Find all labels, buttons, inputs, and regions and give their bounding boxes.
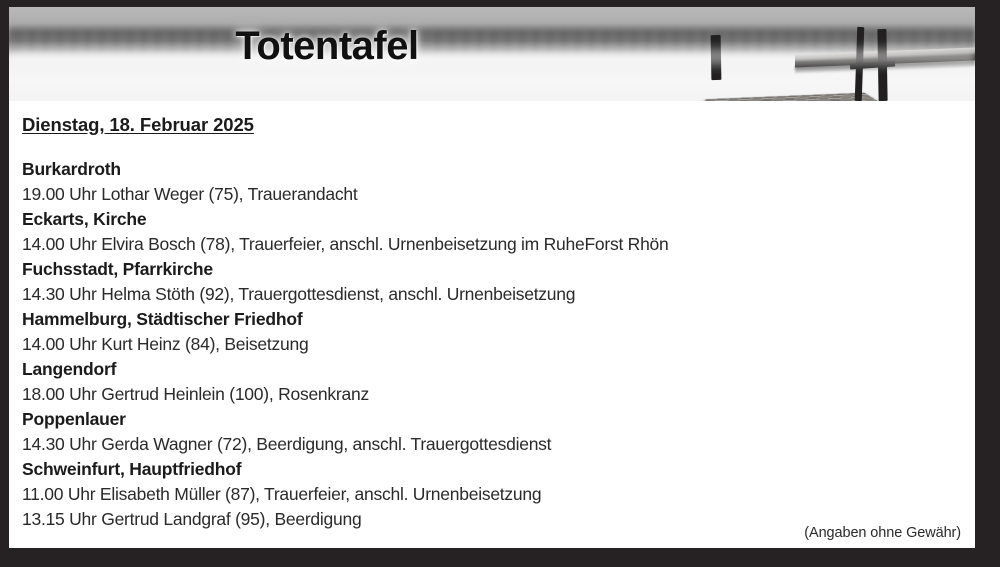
entry-item: Hammelburg, Städtischer Friedhof14.00 Uh… xyxy=(22,307,961,357)
entry-item: Schweinfurt, Hauptfriedhof11.00 Uhr Elis… xyxy=(22,457,961,532)
entry-place: Fuchsstadt, Pfarrkirche xyxy=(22,257,961,282)
entry-item: Burkardroth19.00 Uhr Lothar Weger (75), … xyxy=(22,157,961,207)
entry-service: 18.00 Uhr Gertrud Heinlein (100), Rosenk… xyxy=(22,382,961,407)
entry-service: 19.00 Uhr Lothar Weger (75), Trauerandac… xyxy=(22,182,961,207)
notice-sheet: Totentafel Dienstag, 18. Februar 2025 Bu… xyxy=(9,7,975,548)
entry-list: Burkardroth19.00 Uhr Lothar Weger (75), … xyxy=(22,157,961,532)
entry-service: 14.00 Uhr Kurt Heinz (84), Beisetzung xyxy=(22,332,961,357)
entry-place: Poppenlauer xyxy=(22,407,961,432)
pier-deck xyxy=(665,93,914,101)
entry-place: Langendorf xyxy=(22,357,961,382)
entry-item: Eckarts, Kirche14.00 Uhr Elvira Bosch (7… xyxy=(22,207,961,257)
entry-service: 14.30 Uhr Gerda Wagner (72), Beerdigung,… xyxy=(22,432,961,457)
entry-item: Poppenlauer14.30 Uhr Gerda Wagner (72), … xyxy=(22,407,961,457)
entry-service: 11.00 Uhr Elisabeth Müller (87), Trauerf… xyxy=(22,482,961,507)
entry-place: Eckarts, Kirche xyxy=(22,207,961,232)
date-heading: Dienstag, 18. Februar 2025 xyxy=(22,113,961,137)
entry-place: Hammelburg, Städtischer Friedhof xyxy=(22,307,961,332)
entry-item: Langendorf18.00 Uhr Gertrud Heinlein (10… xyxy=(22,357,961,407)
notice-content: Dienstag, 18. Februar 2025 Burkardroth19… xyxy=(9,101,975,548)
entry-place: Burkardroth xyxy=(22,157,961,182)
disclaimer-note: (Angaben ohne Gewähr) xyxy=(804,524,961,542)
entry-service: 14.00 Uhr Elvira Bosch (78), Trauerfeier… xyxy=(22,232,961,257)
entry-service: 14.30 Uhr Helma Stöth (92), Trauergottes… xyxy=(22,282,961,307)
entry-item: Fuchsstadt, Pfarrkirche14.30 Uhr Helma S… xyxy=(22,257,961,307)
page-title: Totentafel xyxy=(9,23,975,69)
entry-place: Schweinfurt, Hauptfriedhof xyxy=(22,457,961,482)
page-frame: Totentafel Dienstag, 18. Februar 2025 Bu… xyxy=(0,0,1000,567)
banner: Totentafel xyxy=(9,7,975,101)
